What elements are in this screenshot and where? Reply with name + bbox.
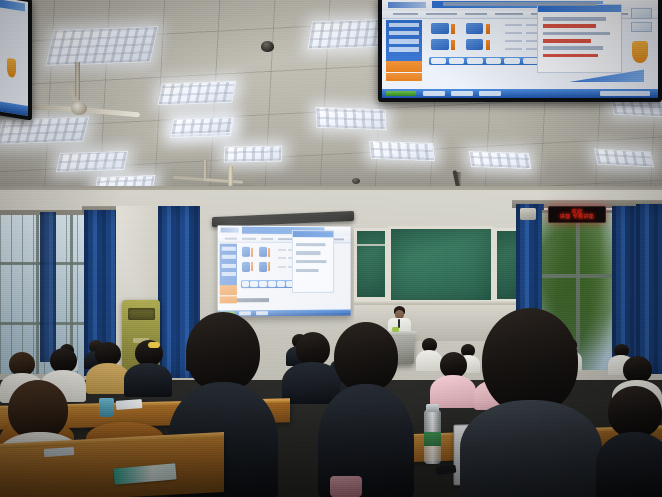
news-item — [296, 243, 325, 246]
water-bottle-cap — [426, 404, 439, 412]
ceiling-light-panel — [224, 145, 283, 162]
news-panel-header — [293, 231, 332, 238]
os-taskbar[interactable] — [382, 89, 658, 98]
grid-bar — [251, 262, 253, 271]
taskbar-item[interactable] — [423, 91, 445, 96]
head — [482, 308, 578, 414]
projected-sidebar — [220, 244, 238, 291]
ceiling-fan-left — [58, 96, 148, 120]
grid-label — [505, 24, 521, 26]
grid-icon — [242, 262, 251, 272]
projected-news-panel — [292, 230, 333, 293]
dome-security-camera — [261, 41, 274, 52]
os-taskbar[interactable] — [0, 98, 28, 116]
ceiling-light-panel — [315, 107, 386, 130]
dome-security-camera-2 — [352, 178, 360, 184]
left-curtain-secondary[interactable] — [40, 212, 56, 362]
news-panel-header — [538, 5, 621, 12]
projected-icon-grid — [241, 246, 297, 277]
fan-blade — [173, 176, 203, 181]
shoulders — [596, 432, 662, 497]
papers-on-desk — [116, 399, 143, 410]
news-item[interactable] — [543, 46, 603, 50]
grid-bar — [268, 262, 270, 271]
taskbar-item[interactable] — [479, 91, 501, 96]
grid-icon — [259, 247, 267, 257]
fan-hub — [71, 102, 87, 115]
red-led-scrolling-sign: 欢迎 讲座 专题讲座 — [548, 206, 606, 223]
news-item — [296, 260, 327, 263]
grid-label — [505, 32, 521, 34]
software-award-badge-icon — [7, 58, 16, 78]
software-icon-grid[interactable] — [429, 22, 545, 55]
grid-label — [505, 40, 521, 42]
water-bottle-label — [424, 432, 441, 446]
head — [623, 356, 652, 383]
ceiling-fan-center — [175, 172, 245, 186]
lecture-hall-photo: 欢迎 讲座 专题讲座 — [0, 0, 662, 497]
foreground-audience-member-far-right — [596, 386, 662, 497]
shoulders — [460, 400, 602, 497]
software-side-button[interactable] — [631, 22, 652, 33]
software-news-panel[interactable] — [537, 4, 622, 73]
grid-icon[interactable] — [466, 23, 483, 34]
software-sidebar-selected-item[interactable] — [386, 61, 422, 72]
grid-label — [505, 48, 521, 50]
ceiling-light-panel — [56, 151, 129, 172]
green-chalkboard-left-panel — [354, 228, 388, 300]
taskbar-item[interactable] — [451, 91, 473, 96]
grid-icon[interactable] — [431, 23, 448, 34]
ceiling-light-panel — [158, 81, 237, 106]
software-sidebar-selected-item-2[interactable] — [386, 73, 422, 82]
projection-screen[interactable] — [218, 225, 351, 316]
news-item-highlighted[interactable] — [543, 39, 591, 43]
green-chalkboard-main-panel — [388, 226, 494, 306]
foreground-audience-member-center — [318, 322, 414, 497]
software-quick-action-row[interactable] — [429, 57, 545, 65]
tv-screen-content — [382, 0, 658, 98]
grid-icon[interactable] — [466, 39, 483, 50]
led-sign-text: 欢迎 讲座 专题讲座 — [560, 210, 594, 220]
taskbar-tray[interactable] — [600, 91, 650, 96]
ceiling-light-panel — [369, 141, 435, 161]
head — [334, 322, 398, 392]
ceiling-light-panel — [594, 149, 654, 168]
grid-bar — [451, 40, 455, 50]
blue-cup — [99, 398, 114, 417]
wall-mounted-lcd-display-left[interactable] — [0, 0, 32, 121]
projected-sidebar-selected-2 — [220, 296, 238, 303]
chalkboard-upper-divider — [354, 244, 390, 246]
projector-mount-pole — [228, 166, 233, 188]
news-item-highlighted[interactable] — [543, 24, 596, 28]
head — [186, 312, 260, 392]
software-side-button[interactable] — [631, 8, 652, 19]
grid-icon — [242, 247, 251, 258]
news-item[interactable] — [543, 17, 606, 21]
head — [8, 380, 68, 440]
projected-sidebar-selected — [220, 286, 238, 296]
grid-bar — [451, 24, 455, 34]
grid-bar — [268, 248, 270, 257]
led-sign-line2: 讲座 专题讲座 — [560, 215, 594, 220]
ceiling-fan-left-pole — [75, 62, 80, 100]
ceiling-light-panel — [170, 117, 233, 135]
news-item-highlighted[interactable] — [543, 54, 598, 58]
news-item — [296, 251, 320, 254]
air-conditioner-vent — [128, 308, 155, 320]
wall-speaker-box — [520, 208, 536, 220]
ceiling-light-panel — [0, 116, 89, 144]
ceiling-light-panel — [45, 26, 158, 66]
grid-bar — [486, 40, 490, 50]
grid-bar — [251, 247, 253, 256]
news-item[interactable] — [543, 32, 609, 36]
taskbar-start-button[interactable] — [386, 91, 416, 96]
ceiling-light-panel — [469, 151, 532, 169]
right-curtain-far[interactable] — [636, 204, 662, 374]
grid-icon — [259, 262, 267, 272]
window-mullion — [36, 214, 39, 374]
wall-mounted-lcd-display-right[interactable] — [378, 0, 662, 102]
grid-label — [278, 249, 286, 251]
tv-screen-content-left — [0, 0, 28, 116]
fan-blade — [78, 107, 140, 117]
shoulders — [124, 363, 172, 397]
fan-blade — [203, 178, 243, 184]
projected-quick-action-row — [241, 280, 297, 288]
grid-label — [278, 266, 286, 268]
hair-clip — [148, 342, 160, 348]
audience-member — [124, 340, 172, 396]
software-award-badge-icon — [632, 41, 649, 63]
news-item — [296, 269, 319, 272]
software-logo — [388, 2, 427, 8]
grid-icon[interactable] — [431, 39, 448, 50]
foreground-audience-member-right — [460, 308, 602, 497]
pink-pouch — [330, 476, 362, 497]
grid-bar — [486, 24, 490, 34]
software-footer-text — [443, 2, 598, 5]
head — [608, 386, 662, 438]
projected-logo — [220, 227, 239, 233]
projected-footer — [237, 298, 269, 302]
grid-label — [278, 257, 286, 259]
